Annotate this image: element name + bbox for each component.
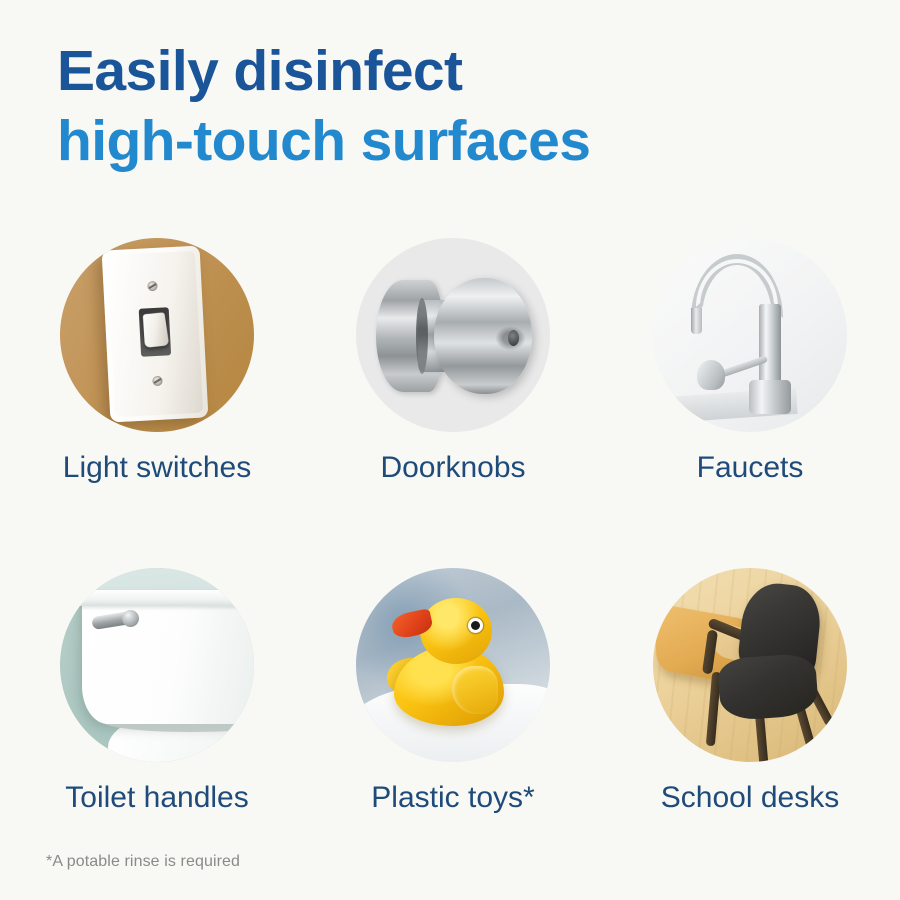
grid-item-plastic-toys[interactable]: Plastic toys* [308, 558, 598, 816]
doorknob-keyhole [508, 330, 519, 346]
faucet-column [759, 304, 781, 386]
switch-slot [139, 307, 171, 357]
light-switch-icon [60, 238, 254, 432]
caption-faucets: Faucets [605, 450, 895, 486]
caption-doorknobs: Doorknobs [308, 450, 598, 486]
faucet-spout [691, 308, 702, 334]
headline-line-2: high-touch surfaces [57, 106, 857, 176]
switch-screw-top [147, 281, 158, 292]
doorknob-ring [416, 298, 428, 374]
school-desk-icon [653, 568, 847, 762]
footnote: *A potable rinse is required [46, 853, 240, 871]
grid-item-doorknobs[interactable]: Doorknobs [308, 228, 598, 486]
switch-screw-bottom [152, 376, 163, 387]
grid-item-school-desks[interactable]: School desks [605, 558, 895, 816]
surface-row-1: Light switches Doorknobs [0, 228, 900, 558]
caption-plastic-toys: Plastic toys* [308, 780, 598, 816]
page-title: Easily disinfect high-touch surfaces [57, 36, 857, 176]
rubber-duck-icon [356, 568, 550, 762]
switch-toggle [143, 312, 169, 348]
duck-head [420, 598, 492, 664]
promo-page: Easily disinfect high-touch surfaces Lig… [0, 0, 900, 900]
toilet-tank-lid [78, 590, 254, 606]
surface-grid: Light switches Doorknobs [0, 228, 900, 888]
faucet-base [749, 380, 791, 414]
surface-row-2: Toilet handles Plastic toys* [0, 558, 900, 888]
caption-school-desks: School desks [605, 780, 895, 816]
duck-wing [452, 666, 498, 714]
faucet-icon [653, 238, 847, 432]
duck-eye [468, 618, 483, 633]
grid-item-faucets[interactable]: Faucets [605, 228, 895, 486]
toilet-icon [60, 568, 254, 762]
headline-line-1: Easily disinfect [57, 36, 857, 106]
doorknob-icon [356, 238, 550, 432]
faucet-lever-knob [697, 360, 725, 390]
switch-plate [102, 246, 209, 423]
grid-item-toilet-handles[interactable]: Toilet handles [12, 558, 302, 816]
doorknob-ball [434, 278, 532, 394]
caption-light-switches: Light switches [12, 450, 302, 486]
toilet-handle-base [122, 610, 139, 627]
caption-toilet-handles: Toilet handles [12, 780, 302, 816]
grid-item-light-switches[interactable]: Light switches [12, 228, 302, 486]
